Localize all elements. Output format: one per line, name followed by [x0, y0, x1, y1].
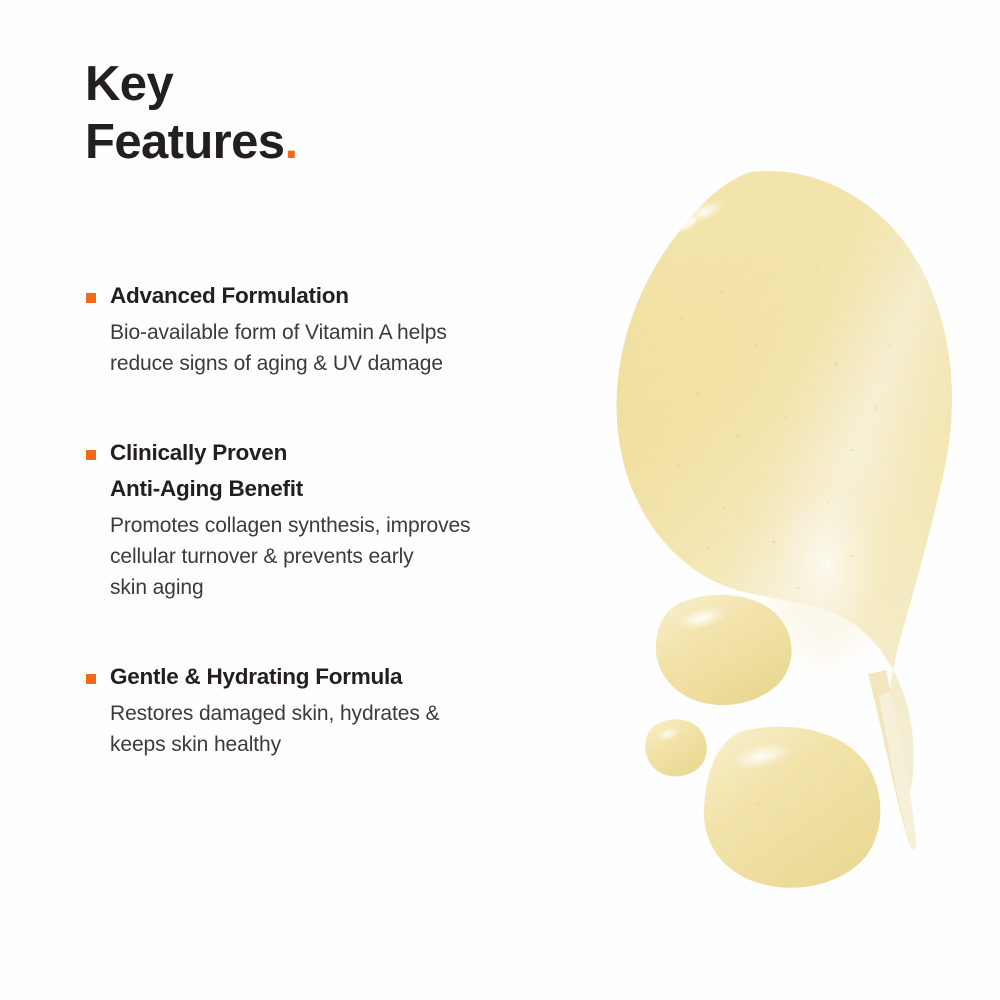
feature-item-gentle-hydrating-formula: Gentle & Hydrating Formula Restores dama…	[85, 659, 605, 760]
feature-description-line: Restores damaged skin, hydrates &	[110, 698, 605, 729]
feature-description-line: Promotes collagen synthesis, improves	[110, 510, 605, 541]
page-title-line-2-text: Features	[85, 115, 284, 169]
feature-item-clinically-proven-anti-aging-benefit: Clinically Proven Anti-Aging Benefit Pro…	[85, 435, 605, 603]
key-features-panel: Key Features. Advanced Formulation Bio-a…	[0, 0, 1000, 1000]
feature-description-line: Bio-available form of Vitamin A helps	[110, 317, 605, 348]
cream-droplet-small	[645, 719, 707, 776]
feature-title-line: Anti-Aging Benefit	[110, 471, 605, 507]
feature-title: Gentle & Hydrating Formula	[110, 659, 605, 695]
feature-description-line: skin aging	[110, 572, 605, 603]
square-bullet-icon	[86, 293, 96, 303]
feature-list: Advanced Formulation Bio-available form …	[85, 278, 605, 760]
page-title: Key Features.	[85, 55, 565, 171]
feature-title-line: Gentle & Hydrating Formula	[110, 659, 605, 695]
page-title-line-1: Key	[85, 55, 565, 113]
cream-droplet-medium	[656, 595, 792, 705]
feature-description-line: reduce signs of aging & UV damage	[110, 348, 605, 379]
feature-title: Advanced Formulation	[110, 278, 605, 314]
square-bullet-icon	[86, 674, 96, 684]
feature-item-advanced-formulation: Advanced Formulation Bio-available form …	[85, 278, 605, 379]
cream-smear-main	[617, 171, 952, 849]
feature-description-line: cellular turnover & prevents early	[110, 541, 605, 572]
feature-description: Promotes collagen synthesis, improves ce…	[110, 510, 605, 603]
feature-description: Restores damaged skin, hydrates & keeps …	[110, 698, 605, 760]
feature-title-line: Clinically Proven	[110, 435, 605, 471]
feature-description: Bio-available form of Vitamin A helps re…	[110, 317, 605, 379]
square-bullet-icon	[86, 450, 96, 460]
cream-droplet-large	[704, 727, 880, 888]
page-title-accent-dot: .	[284, 115, 297, 169]
cream-swatch-illustration	[590, 150, 1000, 910]
feature-description-line: keeps skin healthy	[110, 729, 605, 760]
feature-title: Clinically Proven Anti-Aging Benefit	[110, 435, 605, 507]
page-title-line-2: Features.	[85, 113, 565, 171]
feature-title-line: Advanced Formulation	[110, 278, 605, 314]
